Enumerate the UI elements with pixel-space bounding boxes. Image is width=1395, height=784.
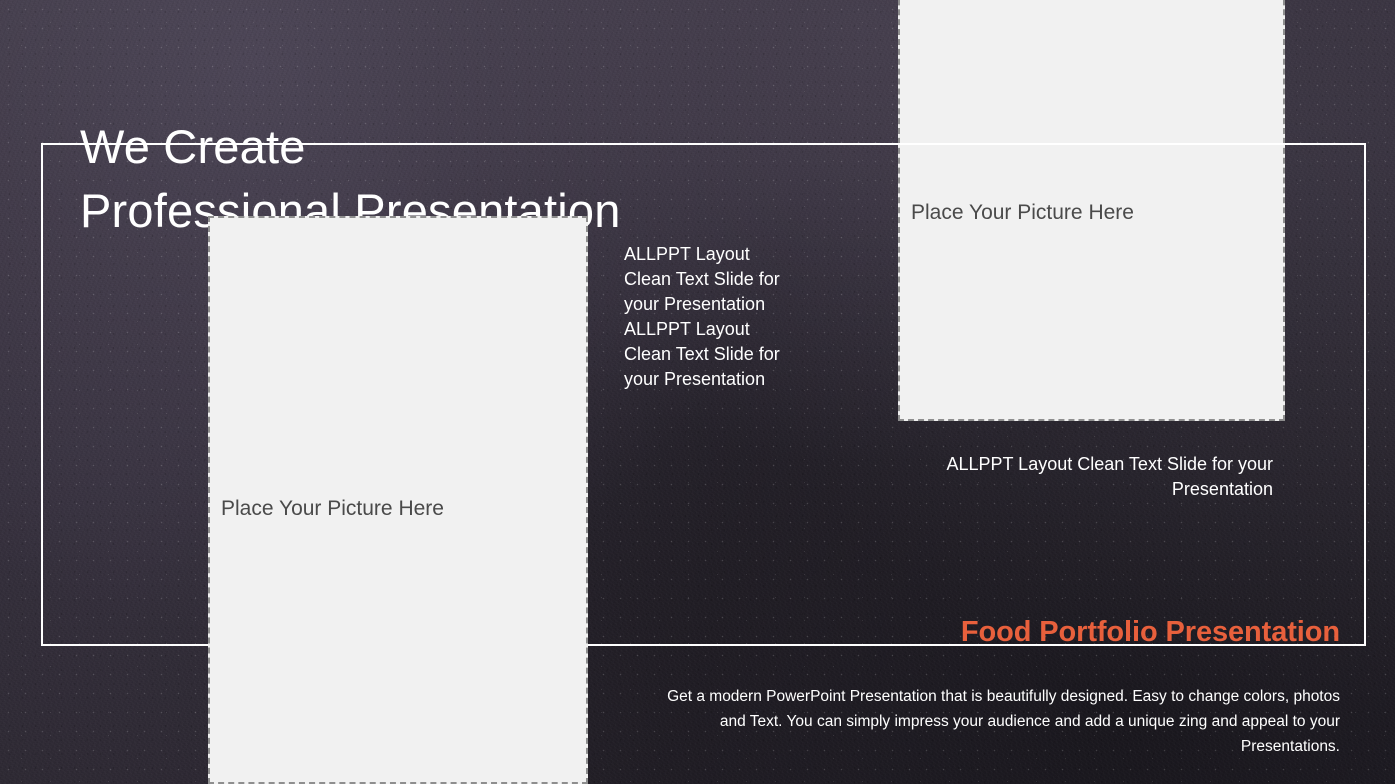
picture-placeholder-left[interactable]: Place Your Picture Here [208,216,588,784]
presentation-slide: Place Your Picture Here We Create Profes… [0,0,1395,784]
bottom-paragraph: Get a modern PowerPoint Presentation tha… [654,684,1340,759]
picture-placeholder-right-label: Place Your Picture Here [911,201,1134,225]
right-picture-caption: ALLPPT Layout Clean Text Slide for your … [843,452,1273,502]
page-title-line-1: We Create [80,120,306,173]
picture-placeholder-left-label: Place Your Picture Here [221,497,444,521]
section-heading: Food Portfolio Presentation [961,616,1340,649]
body-copy-text: ALLPPT Layout Clean Text Slide for your … [624,242,794,392]
picture-placeholder-right[interactable]: Place Your Picture Here [898,0,1285,421]
